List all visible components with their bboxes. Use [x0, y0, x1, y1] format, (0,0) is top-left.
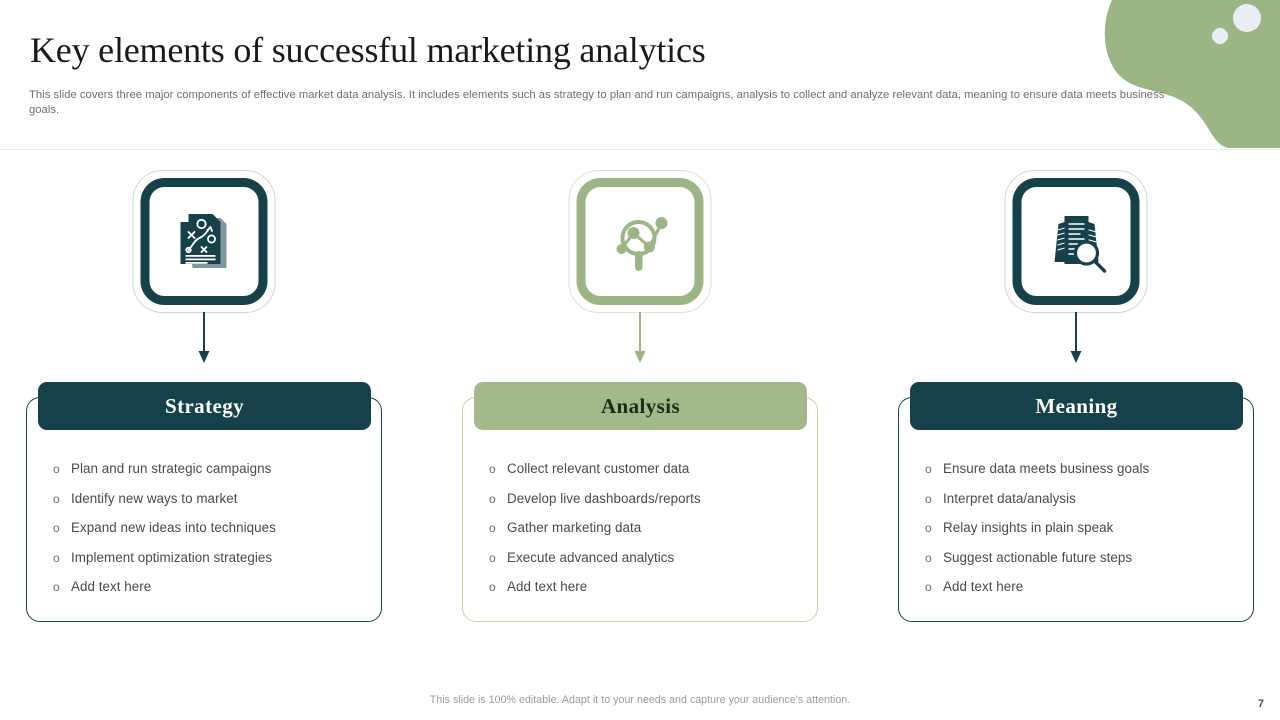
card-strategy: Strategy o Plan and run strategic campai… [26, 397, 382, 622]
list-item: o Collect relevant customer data [489, 460, 803, 478]
icon-badge-strategy[interactable] [133, 170, 276, 313]
bullet-text: Gather marketing data [507, 519, 803, 536]
icon-badge-meaning[interactable] [1005, 170, 1148, 313]
bullet-marker-icon: o [53, 550, 71, 567]
bullet-marker-icon: o [925, 461, 943, 478]
bullet-text: Ensure data meets business goals [943, 460, 1239, 477]
list-item: o Implement optimization strategies [53, 549, 367, 567]
page-subtitle: This slide covers three major components… [29, 88, 1194, 118]
bullet-marker-icon: o [53, 520, 71, 537]
bullet-marker-icon: o [489, 520, 507, 537]
bullet-list-analysis: o Collect relevant customer data o Devel… [489, 460, 803, 608]
bullet-marker-icon: o [53, 579, 71, 596]
bullet-marker-icon: o [925, 550, 943, 567]
list-item: o Add text here [53, 578, 367, 596]
card-header-analysis[interactable]: Analysis [474, 382, 807, 430]
bullet-marker-icon: o [489, 491, 507, 508]
strategy-playbook-document-icon [168, 206, 240, 278]
card-header-meaning[interactable]: Meaning [910, 382, 1243, 430]
list-item: o Add text here [489, 578, 803, 596]
bullet-marker-icon: o [489, 550, 507, 567]
card-meaning: Meaning o Ensure data meets business goa… [898, 397, 1254, 622]
bullet-text: Collect relevant customer data [507, 460, 803, 477]
network-magnifier-analytics-icon [604, 206, 676, 278]
list-item: o Interpret data/analysis [925, 490, 1239, 508]
card-header-label: Meaning [1035, 394, 1117, 419]
connector-arrow-meaning [1069, 312, 1083, 364]
icon-badge-analysis[interactable] [569, 170, 712, 313]
bullet-text: Plan and run strategic campaigns [71, 460, 367, 477]
page-title: Key elements of successful marketing ana… [30, 28, 706, 72]
footer-note: This slide is 100% editable. Adapt it to… [0, 694, 1280, 706]
list-item: o Add text here [925, 578, 1239, 596]
bullet-marker-icon: o [53, 461, 71, 478]
columns-container: Strategy o Plan and run strategic campai… [0, 160, 1280, 650]
bullet-marker-icon: o [489, 461, 507, 478]
card-header-strategy[interactable]: Strategy [38, 382, 371, 430]
bullet-marker-icon: o [925, 520, 943, 537]
bullet-text: Expand new ideas into techniques [71, 519, 367, 536]
list-item: o Ensure data meets business goals [925, 460, 1239, 478]
bullet-text: Execute advanced analytics [507, 549, 803, 566]
bullet-list-meaning: o Ensure data meets business goals o Int… [925, 460, 1239, 608]
bullet-text: Add text here [71, 578, 367, 595]
bullet-text: Relay insights in plain speak [943, 519, 1239, 536]
connector-arrow-strategy [197, 312, 211, 364]
list-item: o Suggest actionable future steps [925, 549, 1239, 567]
list-item: o Relay insights in plain speak [925, 519, 1239, 537]
bullet-marker-icon: o [489, 579, 507, 596]
decorative-corner-blob [1092, 0, 1280, 148]
documents-magnifier-research-icon [1040, 206, 1112, 278]
bullet-text: Develop live dashboards/reports [507, 490, 803, 507]
bullet-text: Suggest actionable future steps [943, 549, 1239, 566]
list-item: o Identify new ways to market [53, 490, 367, 508]
bullet-text: Implement optimization strategies [71, 549, 367, 566]
list-item: o Expand new ideas into techniques [53, 519, 367, 537]
bullet-text: Add text here [507, 578, 803, 595]
card-header-label: Strategy [165, 394, 244, 419]
bullet-list-strategy: o Plan and run strategic campaigns o Ide… [53, 460, 367, 608]
bullet-text: Interpret data/analysis [943, 490, 1239, 507]
list-item: o Gather marketing data [489, 519, 803, 537]
page-number: 7 [1258, 698, 1264, 710]
slide-canvas: Key elements of successful marketing ana… [0, 0, 1280, 720]
card-analysis: Analysis o Collect relevant customer dat… [462, 397, 818, 622]
list-item: o Develop live dashboards/reports [489, 490, 803, 508]
card-header-label: Analysis [601, 394, 680, 419]
connector-arrow-analysis [633, 312, 647, 364]
bullet-text: Add text here [943, 578, 1239, 595]
list-item: o Execute advanced analytics [489, 549, 803, 567]
bullet-text: Identify new ways to market [71, 490, 367, 507]
bullet-marker-icon: o [925, 491, 943, 508]
header-divider [0, 149, 1280, 150]
bullet-marker-icon: o [925, 579, 943, 596]
bullet-marker-icon: o [53, 491, 71, 508]
list-item: o Plan and run strategic campaigns [53, 460, 367, 478]
